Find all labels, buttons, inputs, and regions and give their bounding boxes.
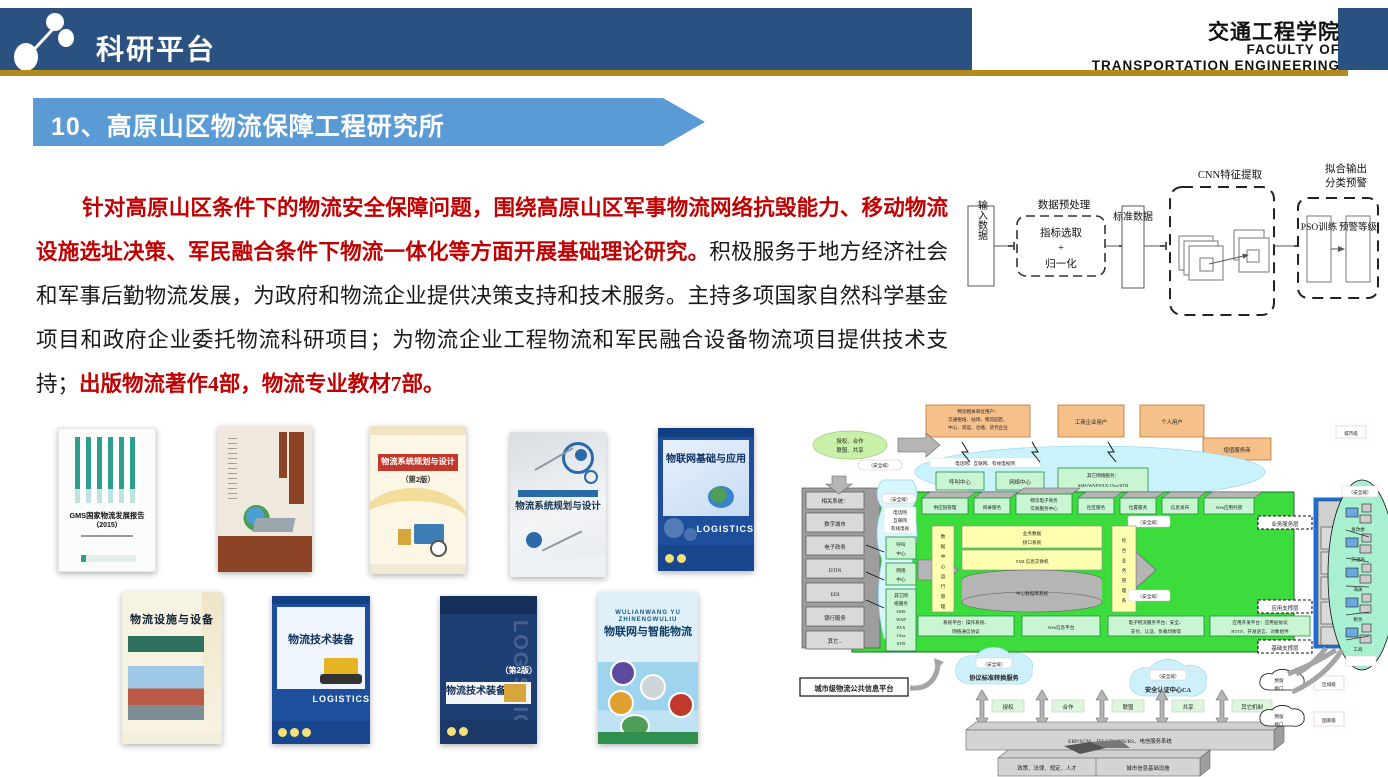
book-cover[interactable]: GMS国家物流发展报告 （2015） — [58, 428, 156, 572]
svg-text:理: 理 — [1122, 588, 1127, 593]
svg-text:物流相关单位用户：: 物流相关单位用户： — [957, 408, 998, 415]
svg-text:支付、认证、负载均衡等: 支付、认证、负载均衡等 — [1131, 628, 1182, 635]
svg-text:SMS/WAP/FAX/15xx/STB: SMS/WAP/FAX/15xx/STB — [1078, 483, 1128, 488]
svg-text:（安全域）: （安全域） — [1138, 593, 1161, 600]
arch-left-system-item: EDI — [831, 592, 840, 598]
faculty-name-en-line1: FACULTY OF — [1247, 42, 1341, 57]
svg-text:（安全域）: （安全域） — [983, 661, 1006, 668]
cnn-node-standard: 标准数据 — [1113, 210, 1153, 223]
svg-text:业务服务层: 业务服务层 — [1272, 520, 1300, 528]
cnn-node-input: 输入数据 — [976, 199, 988, 241]
svg-text:信息发布: 信息发布 — [1171, 504, 1190, 511]
svg-text:应用支撑层: 应用支撑层 — [1272, 604, 1300, 612]
svg-text:海关: 海关 — [1353, 586, 1363, 593]
cnn-node-normalize: 归一化 — [1045, 257, 1077, 270]
svg-text:业: 业 — [1122, 557, 1127, 563]
svg-text:城市信息基础设施: 城市信息基础设施 — [1126, 764, 1170, 772]
arch-left-system-item: DTIN — [829, 568, 842, 574]
book-subtitle: LOGISTICS — [272, 694, 370, 704]
svg-text:城市级: 城市级 — [1344, 430, 1358, 437]
svg-text:数: 数 — [941, 533, 946, 540]
svg-text:XML信息交换机: XML信息交换机 — [1015, 558, 1049, 565]
svg-text:社区服务: 社区服务 — [1087, 504, 1106, 511]
svg-text:工商: 工商 — [1353, 646, 1363, 653]
book-subtitle: （第2版） — [440, 666, 537, 675]
svg-text:联盟、共享: 联盟、共享 — [837, 446, 865, 454]
svg-text:行: 行 — [941, 583, 946, 590]
svg-text:安全认证中心CA: 安全认证中心CA — [1145, 686, 1192, 694]
svg-text:联盟: 联盟 — [1123, 703, 1134, 711]
svg-text:STB: STB — [897, 641, 905, 646]
arch-user-label: 个人用户 — [1161, 418, 1183, 426]
svg-text:系: 系 — [1122, 597, 1127, 603]
svg-text:务: 务 — [1122, 567, 1127, 574]
book-cover[interactable]: WULIANWANG YU ZHINENGWULIU 物联网与智能物流 — [598, 592, 698, 744]
svg-text:物流电子商务: 物流电子商务 — [1030, 497, 1058, 504]
svg-text:系统平台：操作系统、: 系统平台：操作系统、 — [943, 619, 989, 626]
svg-text:目录服务: 目录服务 — [983, 504, 1002, 511]
cnn-node-plus: + — [1058, 243, 1064, 254]
svg-text:电子物流服务平台：安全、: 电子物流服务平台：安全、 — [1128, 619, 1183, 626]
book-cover[interactable]: 物流系统规划与设计 — [510, 432, 606, 577]
book-subtitle: WULIANWANG YU ZHINENGWULIU — [598, 610, 698, 624]
platform-title: 科研平台 — [96, 28, 216, 68]
book-cover[interactable] — [218, 426, 312, 572]
page-header: 科研平台 交通工程学院 FACULTY OF TRANSPORTATION EN… — [0, 8, 1388, 70]
svg-text:Web信息平台: Web信息平台 — [1048, 624, 1075, 631]
book-title: 物流系统规划与设计 — [370, 457, 466, 466]
description-paragraph: 针对高原山区条件下的物流安全保障问题，围绕高原山区军事物流网络抗毁能力、移动物流… — [36, 186, 948, 406]
svg-text:FAX: FAX — [897, 625, 907, 630]
svg-text:应用开发平台：应用层协议: 应用开发平台：应用层协议 — [1232, 619, 1288, 626]
arch-cloud-protocol: （安全域） 协议标准转换服务 — [956, 647, 1033, 684]
svg-text:位置服务: 位置服务 — [1129, 504, 1148, 511]
book-title: 物流系统规划与设计 — [510, 502, 606, 513]
arch-left-system-item: 数字城市 — [824, 520, 846, 528]
svg-text:中心: 中心 — [896, 576, 906, 583]
book-subtitle: LOGISTICS — [658, 524, 754, 534]
svg-text:税务: 税务 — [1353, 616, 1363, 623]
book-subtitle: （2015） — [59, 522, 155, 530]
svg-text:接口系统: 接口系统 — [1023, 539, 1042, 546]
svg-text:授权: 授权 — [1003, 703, 1014, 711]
svg-text:协议标准转换服务: 协议标准转换服务 — [969, 674, 1019, 682]
svg-text:预留: 预留 — [1274, 677, 1284, 684]
cnn-node-pso: PSO训练 — [1301, 221, 1338, 233]
svg-text:接口: 接口 — [1274, 685, 1284, 692]
svg-text:管: 管 — [941, 593, 946, 600]
svg-text:HTTP、开发语言、对象组件: HTTP、开发语言、对象组件 — [1231, 628, 1289, 635]
cnn-group-preprocess: 数据预处理 — [1038, 198, 1091, 211]
svg-text:互联网: 互联网 — [893, 517, 907, 524]
svg-text:国家级: 国家级 — [1322, 717, 1336, 724]
book-title: 物流技术装备 — [272, 634, 370, 647]
svg-text:（安全域）: （安全域） — [869, 462, 892, 469]
arch-left-system-item: 银行服务 — [824, 614, 846, 622]
svg-text:中心、货运、仓储、货代企业: 中心、货运、仓储、货代企业 — [948, 424, 1008, 431]
paragraph-red-tail: 出版物流著作4部，物流专业教材7部。 — [79, 372, 445, 396]
svg-text:共享: 共享 — [1183, 703, 1194, 711]
svg-text:其它机制: 其它机制 — [1241, 703, 1263, 711]
arch-user-label: 工商企业用户 — [1075, 418, 1107, 426]
book-title: 物联网基础与应用 — [658, 454, 754, 466]
svg-text:（安全域）: （安全域） — [1157, 673, 1180, 680]
book-cover[interactable]: 物流系统规划与设计 （第2版） — [370, 426, 466, 574]
svg-text:Web应用托管: Web应用托管 — [1216, 504, 1243, 511]
cnn-group-output-1: 拟合输出 — [1325, 162, 1367, 175]
cnn-node-indicator: 指标选取 — [1040, 226, 1082, 239]
svg-text:交通枢纽、站场、物流园区、: 交通枢纽、站场、物流园区、 — [948, 416, 1008, 423]
book-cover[interactable]: 物流技术装备 LOGISTICS — [272, 596, 370, 744]
svg-text:中心: 中心 — [896, 550, 906, 557]
svg-text:业务数据: 业务数据 — [1023, 530, 1042, 537]
book-cover[interactable]: LOGISTICS 物流技术装备 （第2版） — [440, 596, 537, 744]
svg-text:电话网、互联网、有线电视网: 电话网、互联网、有线电视网 — [955, 460, 1015, 467]
header-gold-rule — [0, 70, 1348, 76]
book-title: GMS国家物流发展报告 — [59, 512, 155, 520]
svg-text:中: 中 — [941, 553, 946, 560]
svg-text:（安全域）: （安全域） — [1138, 519, 1161, 526]
svg-text:交易服务中心: 交易服务中心 — [1030, 505, 1058, 512]
svg-text:网络中心: 网络中心 — [1009, 478, 1031, 486]
svg-text:呼叫中心: 呼叫中心 — [949, 478, 971, 486]
book-title: 物联网与智能物流 — [598, 626, 698, 639]
section-title-banner: 10、高原山区物流保障工程研究所 — [33, 98, 705, 146]
svg-text:电话网: 电话网 — [893, 509, 907, 516]
svg-text:政策、法律、规定、人才: 政策、法律、规定、人才 — [1017, 764, 1077, 772]
svg-text:运: 运 — [941, 573, 946, 580]
svg-text:网络通信协议: 网络通信协议 — [952, 628, 980, 635]
cnn-diagram: 输入数据 数据预处理 指标选取 + 归一化 标准数据 CNN特征提取 拟合输出 … — [962, 158, 1382, 318]
book-subtitle: （第2版） — [370, 476, 466, 485]
cnn-group-output-2: 分类预警 — [1325, 176, 1367, 189]
svg-text:网络: 网络 — [896, 567, 906, 574]
book-gallery: GMS国家物流发展报告 （2015） 物流系统规划与设计 （第2版） 物流系统规… — [40, 410, 780, 770]
arch-left-systems-header: 相关系统： — [822, 497, 849, 505]
svg-text:心: 心 — [941, 563, 946, 569]
arch-auth-bubble — [813, 431, 887, 459]
svg-text:城市级物流公共信息平台: 城市级物流公共信息平台 — [814, 684, 893, 693]
svg-text:预留: 预留 — [1274, 713, 1284, 720]
svg-text:理: 理 — [941, 604, 946, 609]
arch-cloud-ca: （安全域） 安全认证中心CA — [1130, 659, 1207, 696]
arch-user-label: 增值服务商 — [1224, 446, 1252, 454]
network-node-icon — [6, 10, 78, 72]
svg-text:有线电视: 有线电视 — [891, 525, 910, 532]
svg-text:SMS: SMS — [896, 609, 906, 614]
architecture-diagram: .t{font-family:"Liberation Serif","DejaV… — [790, 400, 1388, 777]
svg-text:授权、合作: 授权、合作 — [837, 437, 865, 445]
svg-text:其它网: 其它网 — [894, 592, 908, 599]
svg-text:基础支撑层: 基础支撑层 — [1272, 644, 1300, 652]
svg-text:（安全域）: （安全域） — [1349, 489, 1372, 496]
svg-text:供应链管理: 供应链管理 — [934, 504, 957, 511]
arch-left-system-item: 电子政务 — [824, 543, 846, 551]
header-bar-right — [1338, 8, 1388, 70]
svg-text:综: 综 — [1122, 537, 1127, 544]
book-cover[interactable]: 物联网基础与应用 LOGISTICS — [658, 428, 754, 571]
svg-text:管: 管 — [1122, 577, 1127, 584]
svg-text:呼叫: 呼叫 — [896, 541, 906, 548]
svg-text:合: 合 — [1122, 547, 1127, 554]
svg-text:据: 据 — [941, 543, 946, 550]
page-title: 10、高原山区物流保障工程研究所 — [51, 107, 445, 143]
svg-text:其它网络服务：: 其它网络服务： — [1087, 472, 1119, 479]
cnn-group-feature: CNN特征提取 — [1198, 169, 1263, 181]
book-cover[interactable]: 物流设施与设备 — [122, 592, 222, 744]
book-title: 物流设施与设备 — [122, 614, 222, 627]
svg-text:接口: 接口 — [1274, 721, 1284, 728]
arch-reserved-interface-cloud: 预留 接口 国家级 — [1260, 705, 1344, 728]
svg-text:（安全域）: （安全域） — [888, 496, 911, 503]
svg-text:中心数据库系统: 中心数据库系统 — [1016, 590, 1049, 597]
svg-text:区域级: 区域级 — [1322, 681, 1336, 688]
svg-text:络服务: 络服务 — [894, 600, 908, 607]
arch-left-system-item: 其它... — [828, 637, 843, 645]
cnn-node-level: 预警等级 — [1339, 221, 1378, 233]
banner-arrow-tip — [663, 98, 705, 146]
svg-text:合作: 合作 — [1063, 703, 1074, 711]
svg-text:15xx: 15xx — [896, 633, 906, 638]
svg-text:WAP: WAP — [896, 617, 906, 622]
